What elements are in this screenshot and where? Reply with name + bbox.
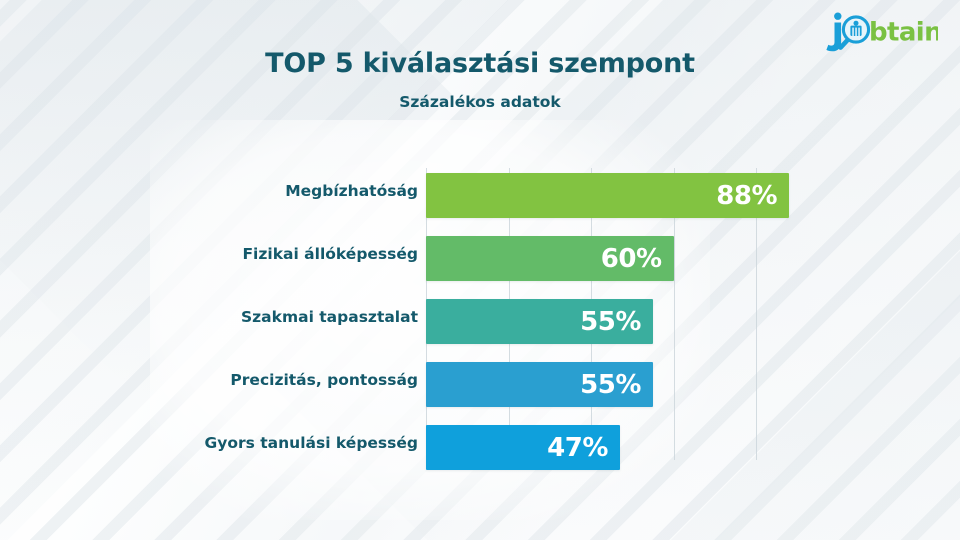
- bar-label-3: Szakmai tapasztalat: [241, 294, 418, 339]
- bar-value-5: 47%: [547, 435, 608, 461]
- chart-row: Szakmai tapasztalat55%: [0, 294, 960, 357]
- bar-value-3: 55%: [580, 309, 641, 335]
- bar-4[interactable]: 55%: [426, 362, 653, 407]
- bar-label-5: Gyors tanulási képesség: [205, 420, 418, 465]
- bar-value-2: 60%: [601, 246, 662, 272]
- chart-rows: Megbízhatóság88%Fizikai állóképesség60%S…: [0, 168, 960, 483]
- bar-value-1: 88%: [716, 183, 777, 209]
- bar-1[interactable]: 88%: [426, 173, 789, 218]
- bar-5[interactable]: 47%: [426, 425, 620, 470]
- chart-row: Megbízhatóság88%: [0, 168, 960, 231]
- chart-row: Gyors tanulási képesség47%: [0, 420, 960, 483]
- bar-label-4: Precizitás, pontosság: [230, 357, 418, 402]
- bar-chart: Megbízhatóság88%Fizikai állóképesség60%S…: [0, 0, 960, 540]
- bar-3[interactable]: 55%: [426, 299, 653, 344]
- bar-label-2: Fizikai állóképesség: [242, 231, 418, 276]
- chart-row: Fizikai állóképesség60%: [0, 231, 960, 294]
- chart-row: Precizitás, pontosság55%: [0, 357, 960, 420]
- bar-value-4: 55%: [580, 372, 641, 398]
- bar-2[interactable]: 60%: [426, 236, 674, 281]
- bar-label-1: Megbízhatóság: [285, 168, 418, 213]
